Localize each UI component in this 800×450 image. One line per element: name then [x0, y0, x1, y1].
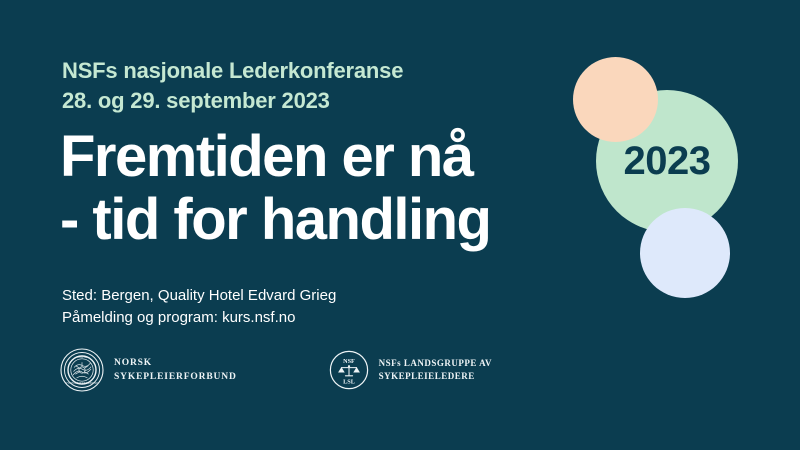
logo-strip: NORSK SYKEPLEIERFORBUND NORSK SYKEPLEIER…	[60, 348, 492, 392]
logo-nsf-lsl: NSF LSL NSFs LANDSGRUPPE AV SYKEPLEIELED…	[329, 350, 492, 390]
svg-text:NORSK: NORSK	[77, 356, 87, 359]
event-details: Sted: Bergen, Quality Hotel Edvard Grieg…	[62, 285, 336, 329]
svg-text:SYKEPLEIERFORBUND: SYKEPLEIERFORBUND	[65, 382, 98, 385]
nsf-seal-icon: NORSK SYKEPLEIERFORBUND	[60, 348, 104, 392]
conference-poster: 2023 NSFs nasjonale Lederkonferanse 28. …	[0, 0, 800, 450]
decorative-circle-peach	[573, 57, 658, 142]
page-title: Fremtiden er nå - tid for handling	[60, 126, 490, 251]
nsf-lsl-scales-icon: NSF LSL	[329, 350, 369, 390]
nsf-seal-top-text: NSF	[343, 358, 355, 365]
logo-label-norsk-sykepleierforbund: NORSK SYKEPLEIERFORBUND	[114, 356, 237, 385]
decorative-circle-blue	[640, 208, 730, 298]
nsf-seal-bottom-text: LSL	[343, 379, 355, 386]
event-kicker: NSFs nasjonale Lederkonferanse 28. og 29…	[62, 56, 403, 115]
logo-label-nsf-lsl: NSFs LANDSGRUPPE AV SYKEPLEIELEDERE	[379, 357, 492, 384]
logo-norsk-sykepleierforbund: NORSK SYKEPLEIERFORBUND NORSK SYKEPLEIER…	[60, 348, 237, 392]
